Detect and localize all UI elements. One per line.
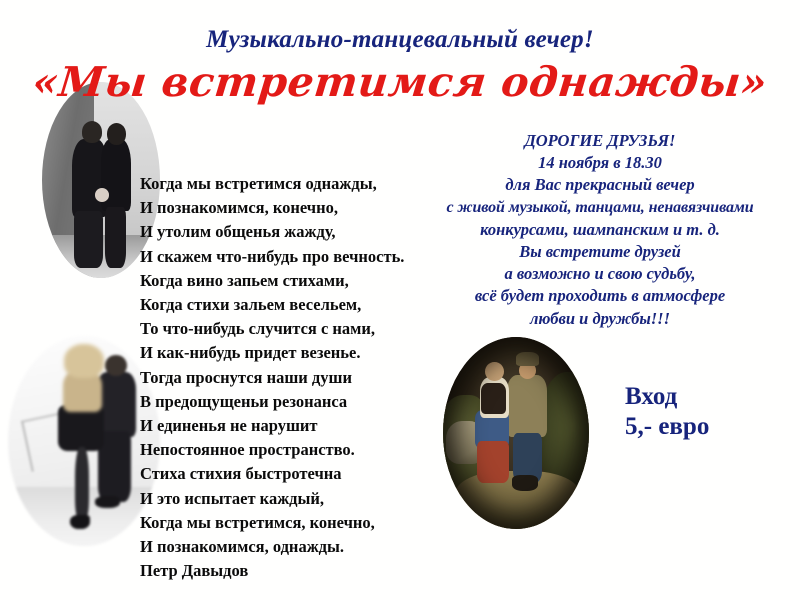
- poem-line: Тогда проснутся наши души: [140, 366, 440, 390]
- poem-line: И это испытает каждый,: [140, 487, 440, 511]
- invitation-line: ДОРОГИЕ ДРУЗЬЯ!: [400, 130, 800, 152]
- poster-canvas: Музыкально-танцевальный вечер! «Мы встре…: [0, 0, 800, 600]
- photo-joined-hands: [95, 188, 109, 202]
- poem-line: И единенья не нарушит: [140, 414, 440, 438]
- dance-man-shoe: [95, 496, 121, 509]
- poem-line: Стиха стихия быстротечна: [140, 462, 440, 486]
- entrance-label: Вход: [625, 382, 709, 412]
- poem-line: И познакомимся, конечно,: [140, 196, 440, 220]
- invitation-line: а возможно и свою судьбу,: [400, 263, 800, 285]
- poem-block: Когда мы встретимся однажды, И познакоми…: [140, 172, 440, 583]
- dancing-couple-blurred-photo: [8, 336, 160, 546]
- photo-woman-legs: [105, 207, 126, 268]
- invitation-line: всё будет проходить в атмосфере: [400, 285, 800, 307]
- invitation-line: 14 ноября в 18.30: [400, 152, 800, 174]
- dance-woman-skirt: [58, 405, 104, 451]
- poem-line: И утолим общенья жажду,: [140, 220, 440, 244]
- invitation-line: Вы встретите друзей: [400, 241, 800, 263]
- poem-line: И скажем что-нибудь про вечность.: [140, 245, 440, 269]
- poem-line: И как-нибудь придет везенье.: [140, 341, 440, 365]
- entrance-price: 5,- евро: [625, 412, 709, 442]
- poem-line: Когда мы встретимся однажды,: [140, 172, 440, 196]
- invitation-line: с живой музыкой, танцами, ненавязчивами: [400, 197, 800, 219]
- photo-woman-head: [107, 123, 126, 145]
- poster-title-script: «Мы встретимся однажды»: [0, 58, 800, 106]
- dance-woman-shoe: [70, 515, 90, 530]
- rustic-couple-oval-painting: [443, 337, 589, 529]
- invitation-line: для Вас прекрасный вечер: [400, 174, 800, 196]
- photo-man-head: [82, 121, 102, 143]
- invitation-block: ДОРОГИЕ ДРУЗЬЯ! 14 ноября в 18.30 для Ва…: [400, 130, 800, 330]
- poem-line: Когда мы встретимся, конечно,: [140, 511, 440, 535]
- poem-line: И познакомимся, однажды.: [140, 535, 440, 559]
- invitation-line: конкурсами, шампанским и т. д.: [400, 219, 800, 241]
- poem-line: То что-нибудь случится с нами,: [140, 317, 440, 341]
- invitation-line: любви и дружбы!!!: [400, 308, 800, 330]
- entrance-price-block: Вход 5,- евро: [625, 382, 709, 442]
- poem-line: Непостоянное пространство.: [140, 438, 440, 462]
- poem-line: Когда вино запьем стихами,: [140, 269, 440, 293]
- poem-line: В предощущеньи резонанса: [140, 390, 440, 414]
- poster-title-event: Музыкально-танцевальный вечер!: [0, 26, 800, 54]
- photo-man-legs: [74, 211, 104, 268]
- poem-line: Когда стихи зальем весельем,: [140, 293, 440, 317]
- dance-man-head: [105, 355, 126, 376]
- painting-vignette: [443, 337, 589, 529]
- poem-author: Петр Давыдов: [140, 559, 440, 583]
- dance-woman-hair: [64, 344, 104, 378]
- dance-woman-leg: [75, 447, 89, 521]
